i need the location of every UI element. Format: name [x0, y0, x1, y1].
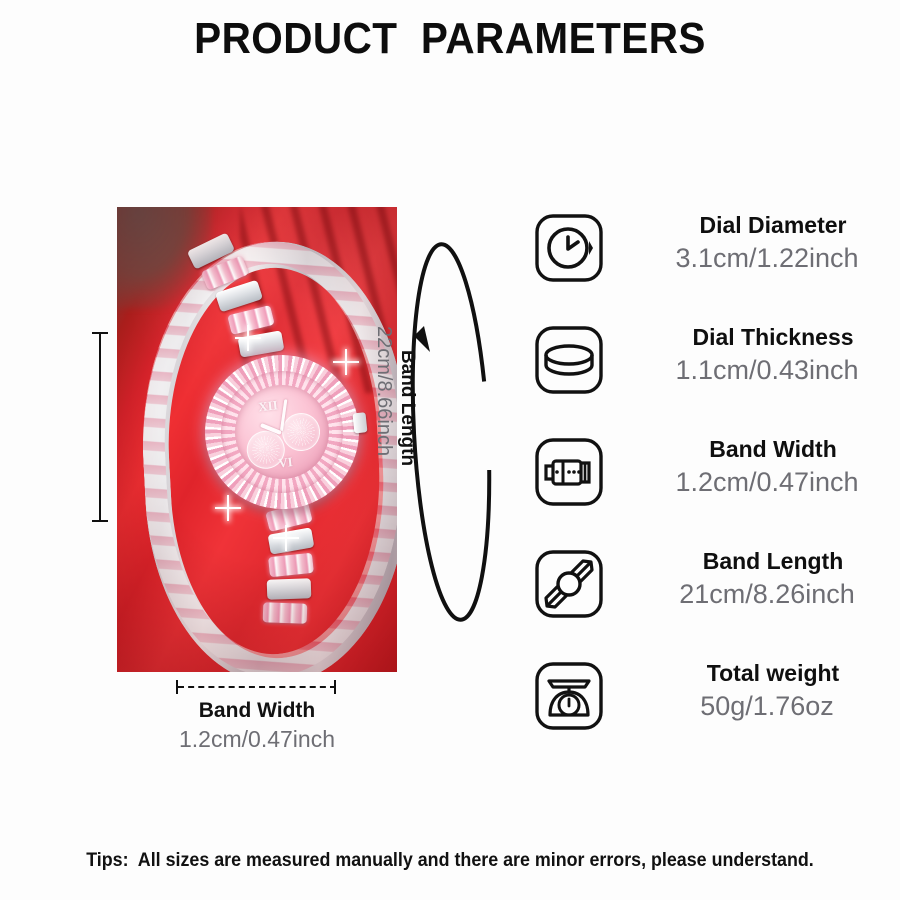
spec-row-band-width: Band Width 1.2cm/0.47inch	[533, 436, 893, 548]
dimension-cap-right	[334, 680, 336, 694]
dimension-dashed-line	[178, 686, 336, 688]
spec-text: Band Length 21cm/8.26inch	[651, 546, 895, 612]
spec-row-dial-diameter: Dial Diameter 3.1cm/1.22inch	[533, 212, 893, 324]
spec-text: Total weight 50g/1.76oz	[651, 658, 895, 724]
dimension-cap-bottom	[92, 520, 108, 522]
spec-value: 50g/1.76oz	[639, 688, 895, 724]
band-length-caption: Band Length 22cm/8.66inch	[364, 350, 420, 580]
dimension-cap-top	[92, 332, 108, 334]
spec-label: Band Length	[651, 546, 895, 576]
photo-vignette	[117, 207, 397, 672]
spec-label: Dial Diameter	[651, 210, 895, 240]
band-width-value: 1.2cm/0.47inch	[117, 724, 397, 754]
watch-strap-diagonal-icon	[533, 548, 605, 620]
spec-value: 3.1cm/1.22inch	[639, 240, 895, 276]
spec-value: 1.1cm/0.43inch	[639, 352, 895, 388]
product-photo: XII VI	[117, 207, 397, 672]
band-width-dimension-line	[174, 678, 340, 696]
spec-text: Band Width 1.2cm/0.47inch	[651, 434, 895, 500]
kitchen-scale-icon	[533, 660, 605, 732]
spec-value: 1.2cm/0.47inch	[639, 464, 895, 500]
band-width-label: Band Width	[117, 698, 397, 724]
spec-label: Band Width	[651, 434, 895, 464]
spec-row-dial-thickness: Dial Thickness 1.1cm/0.43inch	[533, 324, 893, 436]
spec-list: Dial Diameter 3.1cm/1.22inch Dial Thickn…	[533, 212, 893, 772]
dimension-cap-left	[176, 680, 178, 694]
spec-value: 21cm/8.26inch	[639, 576, 895, 612]
spec-label: Dial Thickness	[651, 322, 895, 352]
watch-clock-icon	[533, 212, 605, 284]
cylinder-puck-icon	[533, 324, 605, 396]
band-width-caption: Band Width 1.2cm/0.47inch	[117, 698, 397, 754]
spec-row-total-weight: Total weight 50g/1.76oz	[533, 660, 893, 772]
watch-clasp-icon	[533, 436, 605, 508]
footer-tip: Tips: All sizes are measured manually an…	[27, 850, 873, 872]
spec-text: Dial Diameter 3.1cm/1.22inch	[651, 210, 895, 276]
spec-text: Dial Thickness 1.1cm/0.43inch	[651, 322, 895, 388]
spec-row-band-length: Band Length 21cm/8.26inch	[533, 548, 893, 660]
band-length-value: 22cm/8.66inch	[372, 326, 395, 456]
band-length-label: Band Length	[396, 350, 418, 466]
dial-diameter-dimension-line	[90, 328, 110, 526]
dimension-line	[99, 332, 101, 522]
spec-label: Total weight	[651, 658, 895, 688]
page-title: PRODUCT PARAMETERS	[36, 14, 864, 64]
